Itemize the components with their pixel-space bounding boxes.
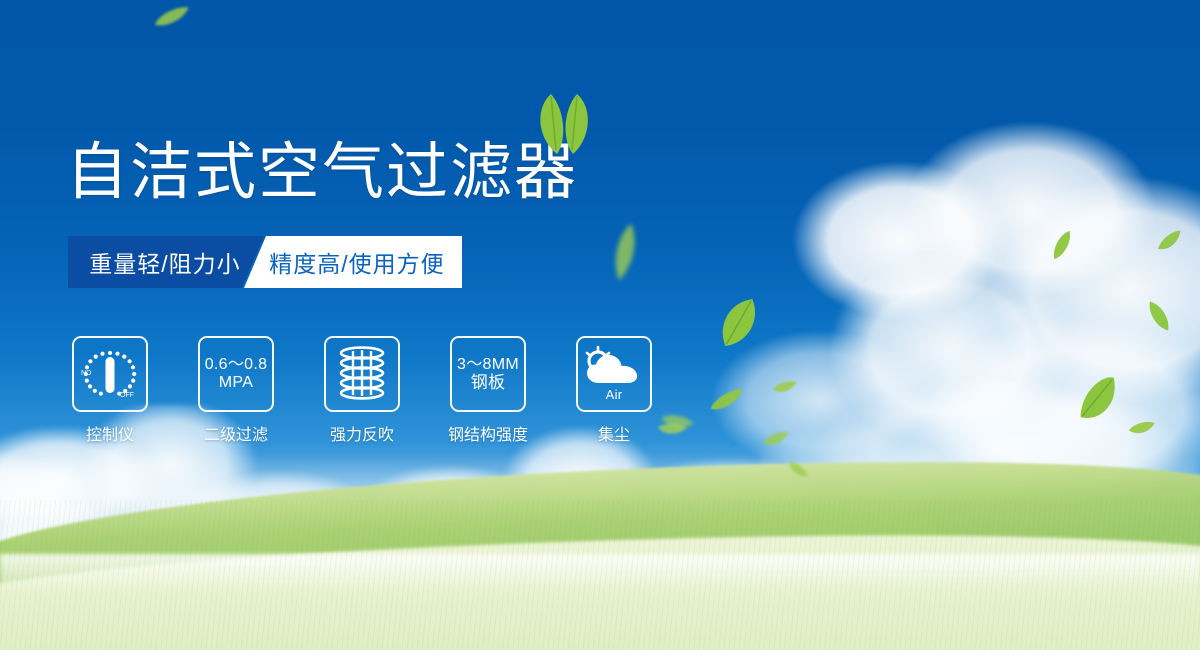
subtitle-left-segment: 重量轻/阻力小 (68, 236, 264, 288)
gauge-icon: NO OFF (79, 345, 141, 403)
leaf-icon (760, 427, 792, 451)
gauge-left-label: NO (81, 370, 92, 377)
feature-label: 二级过滤 (204, 421, 268, 445)
leaf-icon (1140, 295, 1178, 337)
leaf-icon (656, 418, 689, 441)
air-label-text: Air (606, 388, 623, 403)
sprout-leaves-icon (521, 90, 605, 156)
coil-filter-icon (334, 345, 390, 403)
feature-label: 集尘 (598, 421, 630, 445)
pressure-unit-text: MPA (219, 374, 253, 392)
page-title: 自洁式空气过滤器 (66, 140, 578, 205)
leaf-icon (658, 407, 697, 437)
gauge-right-label: OFF (120, 392, 134, 399)
feature-item-secondary-filter[interactable]: 0.6〜0.8 MPA 二级过滤 (198, 336, 274, 445)
leaf-icon (606, 220, 644, 284)
steel-plate-text: 钢板 (471, 373, 506, 392)
leaf-icon (705, 287, 772, 358)
feature-label: 控制仪 (86, 421, 134, 445)
cloud-air-icon (583, 345, 645, 387)
steel-thickness-text: 3〜8MM (457, 356, 519, 374)
feature-item-dust-collection[interactable]: Air 集尘 (576, 336, 652, 445)
headline-block: 自洁式空气过滤器 (66, 140, 578, 205)
subtitle-bar: 重量轻/阻力小 精度高/使用方便 (68, 236, 462, 288)
leaf-icon (1127, 419, 1157, 438)
feature-icon-box: 3〜8MM 钢板 (450, 336, 526, 412)
feature-list: NO OFF 控制仪 0.6〜0.8 MPA 二级过滤 (72, 336, 652, 445)
leaf-icon (1046, 226, 1078, 264)
product-banner: 自洁式空气过滤器 重量轻/阻力小 精度高/使用方便 (0, 0, 1200, 650)
feature-item-steel-strength[interactable]: 3〜8MM 钢板 钢结构强度 (450, 336, 526, 445)
leaf-icon (1065, 368, 1131, 429)
leaf-icon (704, 381, 750, 419)
feature-item-blowback[interactable]: 强力反吹 (324, 336, 400, 445)
feature-icon-box (324, 336, 400, 412)
leaf-icon (771, 376, 799, 397)
leaf-icon (150, 0, 195, 33)
feature-item-controller[interactable]: NO OFF 控制仪 (72, 336, 148, 445)
feature-icon-box: Air (576, 336, 652, 412)
leaf-icon (1153, 226, 1188, 257)
cloud-right (700, 120, 1200, 520)
pressure-value-text: 0.6〜0.8 (205, 356, 268, 374)
subtitle-right-segment: 精度高/使用方便 (244, 236, 462, 288)
feature-label: 钢结构强度 (448, 421, 528, 445)
feature-icon-box: NO OFF (72, 336, 148, 412)
feature-label: 强力反吹 (330, 421, 394, 445)
grass-texture (0, 500, 1200, 650)
feature-icon-box: 0.6〜0.8 MPA (198, 336, 274, 412)
